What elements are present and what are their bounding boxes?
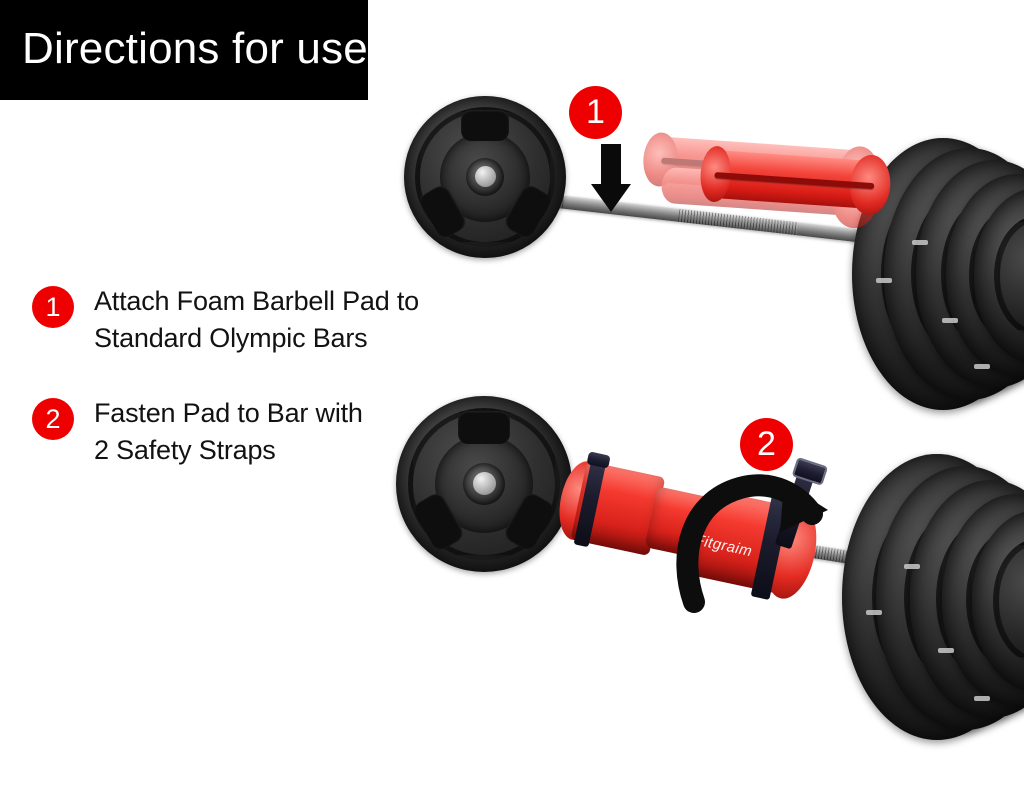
callout-badge-2: 2 xyxy=(740,418,793,471)
instruction-list: 1 Attach Foam Barbell Pad to Standard Ol… xyxy=(32,283,432,507)
instruction-line: 2 Safety Straps xyxy=(94,432,432,469)
weight-plate-left-top xyxy=(404,96,566,258)
page-title: Directions for use xyxy=(22,20,368,78)
instruction-line: Attach Foam Barbell Pad to xyxy=(94,283,432,320)
weight-plate-left-bottom xyxy=(396,396,572,572)
instruction-item-1: 1 Attach Foam Barbell Pad to Standard Ol… xyxy=(32,283,432,359)
instruction-line: Fasten Pad to Bar with xyxy=(94,395,432,432)
instruction-line: Standard Olympic Bars xyxy=(94,320,432,357)
callout-badge-1: 1 xyxy=(569,86,622,139)
title-banner: Directions for use xyxy=(0,0,368,100)
step-badge-1: 1 xyxy=(32,286,74,328)
foam-pad-front-half xyxy=(697,131,903,241)
instruction-image: Directions for use 1 Attach Foam Barbell… xyxy=(0,0,1024,791)
instruction-text-2: Fasten Pad to Bar with 2 Safety Straps xyxy=(94,395,432,469)
weight-plate-stack-bottom xyxy=(838,440,1024,760)
arrow-down-icon xyxy=(591,144,631,214)
instruction-text-1: Attach Foam Barbell Pad to Standard Olym… xyxy=(94,283,432,357)
instruction-item-2: 2 Fasten Pad to Bar with 2 Safety Straps xyxy=(32,395,432,471)
step-badge-2: 2 xyxy=(32,398,74,440)
